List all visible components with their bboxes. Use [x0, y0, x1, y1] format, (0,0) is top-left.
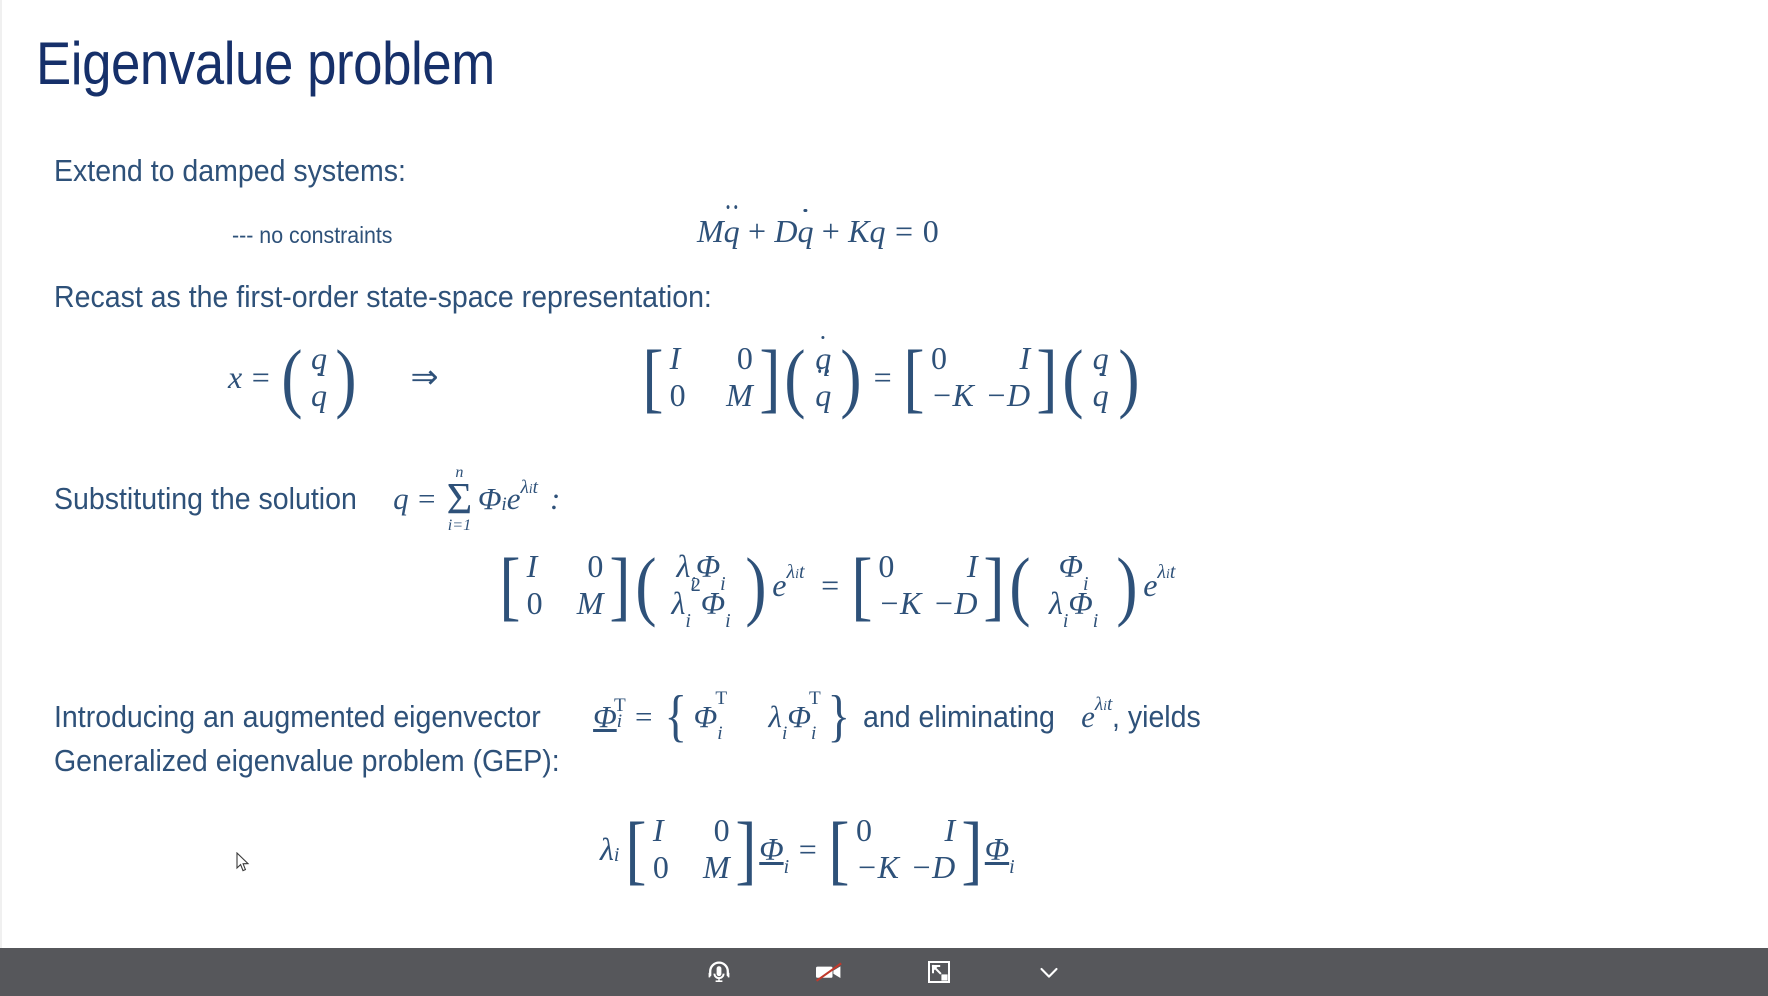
equation-exponential-term: eλit — [1081, 699, 1112, 735]
text-extend-to-damped-systems: Extend to damped systems: — [54, 152, 406, 190]
text-generalized-eigenvalue-problem: Generalized eigenvalue problem (GEP): — [54, 742, 560, 780]
mouse-pointer — [236, 852, 250, 872]
equation-state-vector-definition: x = ( q q ) ⇒ — [228, 340, 439, 414]
text-substituting-solution-colon: : — [550, 481, 560, 517]
text-introducing-augmented-eigenvector-row: Introducing an augmented eigenvector ΦiT… — [54, 698, 1209, 736]
text-introducing-mid: and eliminating — [863, 698, 1055, 736]
equation-of-motion: Mq + Dq + Kq = 0 — [697, 213, 939, 250]
camera-off-icon[interactable] — [802, 951, 856, 993]
equation-augmented-eigenvector: ΦiT = { ΦiT λiΦiT } — [593, 699, 852, 735]
page-title: Eigenvalue problem — [36, 32, 495, 97]
text-no-constraints: --- no constraints — [232, 222, 392, 249]
slide-canvas: Eigenvalue problem Extend to damped syst… — [0, 0, 1768, 948]
text-substituting-solution-prefix: Substituting the solution — [54, 480, 357, 518]
share-screen-icon[interactable] — [912, 951, 966, 993]
equation-solution-ansatz: q = n Σ i=1 Φi eλit — [393, 465, 538, 534]
meeting-toolbar — [0, 948, 1768, 996]
chevron-down-icon[interactable] — [1022, 951, 1076, 993]
equation-state-space-matrix: [ I0 0M ] ( q q ) = [ 0I −K−D ] ( — [640, 340, 1141, 414]
slide-left-edge — [0, 0, 2, 948]
text-introducing-prefix: Introducing an augmented eigenvector — [54, 698, 541, 736]
headset-icon[interactable] — [692, 951, 746, 993]
text-introducing-suffix: , yields — [1112, 698, 1201, 736]
equation-substituted-eigenvalue: [ I0 0M ] ( λiΦi λi2Φi ) eλit = [ 0I −K−… — [497, 548, 1175, 622]
text-recast-state-space: Recast as the first-order state-space re… — [54, 278, 712, 316]
text-substituting-solution-row: Substituting the solution q = n Σ i=1 Φi… — [54, 465, 560, 534]
equation-generalized-eigenvalue-problem: λi [ I0 0M ] Φi = [ 0I −K−D ] Φi — [600, 812, 1015, 886]
